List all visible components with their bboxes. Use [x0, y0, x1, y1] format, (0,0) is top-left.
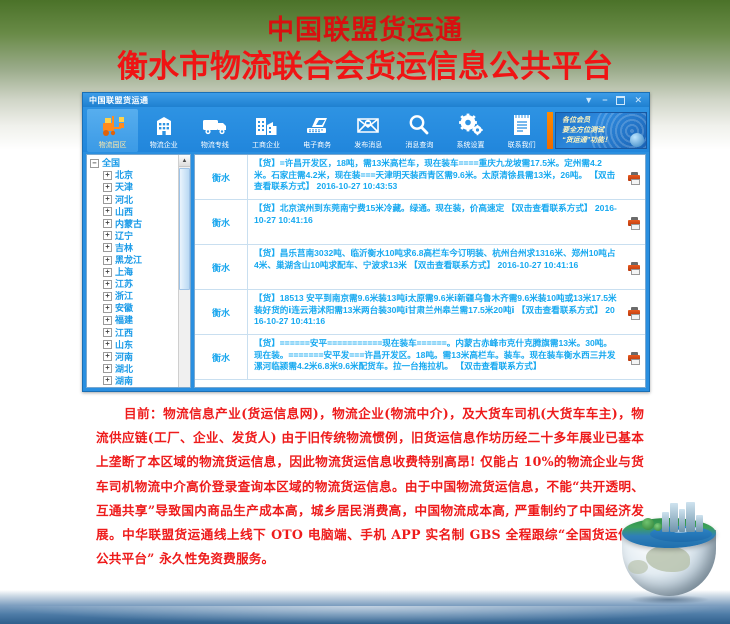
toolbar-label: 联系我们: [508, 140, 536, 150]
tree-expand-icon[interactable]: +: [103, 280, 112, 289]
message-row-body: 【货】======安平===========现在装车======。内蒙古赤峰市克…: [254, 338, 616, 371]
tree-node-label: 山东: [115, 339, 133, 351]
tree-node-province[interactable]: +河南: [90, 351, 178, 363]
ad-banner-line-3: “货运通”功能！: [562, 136, 646, 146]
toolbar-item-message-search[interactable]: 消息查询: [394, 109, 445, 152]
ad-banner[interactable]: 各位会员 要全方位测试 “货运通”功能！: [555, 112, 647, 149]
tree-node-province[interactable]: +浙江: [90, 290, 178, 302]
message-row-city: 衡水: [195, 245, 248, 289]
page-titles: 中国联盟货运通 衡水市物流联合会货运信息公共平台: [0, 14, 730, 86]
search-icon: [407, 112, 431, 138]
toolbar-label: 物流企业: [150, 140, 178, 150]
tree-node-province[interactable]: +湖南: [90, 375, 178, 387]
building-icon: [152, 112, 176, 138]
message-row-body: 【货】18513 安平到南京需9.6米装13吨ⅰ太原需9.6米ⅰ新疆乌鲁木齐需9…: [254, 293, 617, 314]
help-chevron-icon[interactable]: ▼: [584, 96, 593, 105]
globe-tree-small-icon: [654, 523, 662, 531]
tree-expand-icon[interactable]: +: [103, 171, 112, 180]
globe-shadow: [628, 595, 710, 604]
toolbar-item-logistics-line[interactable]: 物流专线: [189, 109, 240, 152]
tree-node-label: 河北: [115, 194, 133, 206]
message-row[interactable]: 衡水【货】18513 安平到南京需9.6米装13吨ⅰ太原需9.6米ⅰ新疆乌鲁木齐…: [195, 290, 645, 335]
toolbar-label: 系统设置: [457, 140, 485, 150]
globe-landmass: [646, 546, 690, 572]
tree-node-province[interactable]: +福建: [90, 314, 178, 326]
region-tree-panel: − 全国 +北京+天津+河北+山西+内蒙古+辽宁+吉林+黑龙江+上海+江苏+浙江…: [86, 154, 191, 388]
message-row-action[interactable]: [623, 335, 645, 379]
tree-node-province[interactable]: +天津: [90, 181, 178, 193]
tree-node-label: 湖南: [115, 375, 133, 387]
tree-expand-icon[interactable]: +: [103, 219, 112, 228]
tree-expand-icon[interactable]: +: [103, 243, 112, 252]
maximize-icon[interactable]: [616, 96, 625, 105]
truck-icon: [201, 112, 229, 138]
toolbar-orange-divider: [547, 112, 553, 149]
tree-node-province[interactable]: +山东: [90, 339, 178, 351]
message-row-body: 【货】北京滨州到东莞南宁费15米冷藏。绿通。现在装，价高速定 【双击查看联系方式…: [254, 203, 593, 213]
page-title-secondary: 衡水市物流联合会货运信息公共平台: [0, 48, 730, 86]
message-list: 衡水【货】=许昌开发区，18吨，需13米高栏车，现在装车====重庆九龙坡需17…: [195, 155, 645, 380]
message-row[interactable]: 衡水【货】昌乐莒南3032吨、临沂衡水10吨求6.8高栏车今订明装、杭州台州求1…: [195, 245, 645, 290]
message-row-body: 【货】=许昌开发区，18吨，需13米高栏车，现在装车====重庆九龙坡需17.5…: [254, 158, 615, 191]
ad-banner-line-2: 要全方位测试: [562, 126, 646, 136]
tree-node-province[interactable]: +安徽: [90, 302, 178, 314]
tree-node-label: 山西: [115, 206, 133, 218]
skyline-building: [670, 503, 678, 532]
tree-expand-icon[interactable]: +: [103, 304, 112, 313]
message-list-panel[interactable]: 衡水【货】=许昌开发区，18吨，需13米高栏车，现在装车====重庆九龙坡需17…: [194, 154, 646, 388]
message-row-city: 衡水: [195, 290, 248, 334]
tree-node-nationwide[interactable]: − 全国: [90, 157, 178, 169]
minimize-icon[interactable]: −: [602, 96, 607, 105]
message-row-action[interactable]: [623, 200, 645, 244]
tree-node-label: 吉林: [115, 242, 133, 254]
message-row-city: 衡水: [195, 200, 248, 244]
gear-icon: [458, 112, 484, 138]
window-controls: ▼ − ✕: [584, 96, 647, 105]
skyline-building: [686, 502, 695, 532]
tree-scrollbar[interactable]: ▲: [178, 155, 190, 387]
tree-expand-icon[interactable]: +: [103, 376, 112, 385]
tree-node-province[interactable]: +江苏: [90, 278, 178, 290]
tree-children: +北京+天津+河北+山西+内蒙古+辽宁+吉林+黑龙江+上海+江苏+浙江+安徽+福…: [90, 169, 178, 387]
toolbar-item-publish-message[interactable]: 发布消息: [343, 109, 394, 152]
toolbar-item-logistics-company[interactable]: 物流企业: [138, 109, 189, 152]
printer-icon[interactable]: [628, 217, 640, 228]
tree-collapse-icon[interactable]: −: [90, 159, 99, 168]
message-row-text: 【货】昌乐莒南3032吨、临沂衡水10吨求6.8高栏车今订明装、杭州台州求131…: [248, 245, 623, 289]
tree-node-label: 全国: [102, 157, 120, 169]
toolbar-item-system-settings[interactable]: 系统设置: [445, 109, 496, 152]
printer-icon[interactable]: [628, 172, 640, 183]
tree-node-label: 黑龙江: [115, 254, 142, 266]
tree-node-label: 辽宁: [115, 230, 133, 242]
globe-city-skyline: [662, 502, 706, 532]
tree-expand-icon[interactable]: +: [103, 292, 112, 301]
window-app-name: 中国联盟货运通: [89, 95, 584, 106]
tree-expand-icon[interactable]: +: [103, 328, 112, 337]
window-titlebar[interactable]: 中国联盟货运通 ▼ − ✕: [83, 93, 649, 107]
message-row-text: 【货】北京滨州到东莞南宁费15米冷藏。绿通。现在装，价高速定 【双击查看联系方式…: [248, 200, 623, 244]
skyline-building: [662, 512, 669, 532]
tree-node-label: 内蒙古: [115, 218, 142, 230]
envelope-icon: [355, 112, 381, 138]
background-water-glow: [0, 606, 730, 624]
earth-city-globe-icon: [616, 498, 722, 602]
message-row[interactable]: 衡水【货】北京滨州到东莞南宁费15米冷藏。绿通。现在装，价高速定 【双击查看联系…: [195, 200, 645, 245]
toolbar-item-logistics-park[interactable]: 物流园区: [87, 109, 138, 152]
tree-node-label: 上海: [115, 266, 133, 278]
window-body: − 全国 +北京+天津+河北+山西+内蒙古+辽宁+吉林+黑龙江+上海+江苏+浙江…: [83, 152, 649, 391]
tree-node-label: 河南: [115, 351, 133, 363]
tree-node-label: 江西: [115, 327, 133, 339]
globe-landmass-secondary: [628, 560, 648, 574]
intro-paragraph: 目前：物流信息产业(货运信息网)，物流企业(物流中介)，及大货车司机(大货车车主…: [96, 402, 644, 571]
tree-node-province[interactable]: +江西: [90, 327, 178, 339]
message-row-action[interactable]: [623, 155, 645, 199]
tree-node-province[interactable]: +内蒙古: [90, 218, 178, 230]
tree-expand-icon[interactable]: +: [103, 340, 112, 349]
ad-banner-line-1: 各位会员: [562, 116, 646, 126]
page-title-primary: 中国联盟货运通: [0, 14, 730, 48]
printer-icon[interactable]: [628, 262, 640, 273]
scroll-up-icon[interactable]: ▲: [179, 155, 190, 167]
application-window: 中国联盟货运通 ▼ − ✕ 物流园区: [82, 92, 650, 392]
tree-node-province[interactable]: +河北: [90, 194, 178, 206]
message-row-text: 【货】=许昌开发区，18吨，需13米高栏车，现在装车====重庆九龙坡需17.5…: [248, 155, 623, 199]
message-row-city: 衡水: [195, 335, 248, 379]
toolbar-item-contact-us[interactable]: 联系我们: [496, 109, 547, 152]
tree-expand-icon[interactable]: +: [103, 231, 112, 240]
toolbar-label: 发布消息: [354, 140, 382, 150]
globe-tree-large-icon: [642, 518, 654, 530]
tree-node-label: 江苏: [115, 278, 133, 290]
skyline-building: [696, 515, 703, 532]
close-icon[interactable]: ✕: [634, 96, 642, 105]
tree-expand-icon[interactable]: +: [103, 207, 112, 216]
region-tree: − 全国 +北京+天津+河北+山西+内蒙古+辽宁+吉林+黑龙江+上海+江苏+浙江…: [87, 155, 178, 387]
tree-node-province[interactable]: +山西: [90, 206, 178, 218]
tree-node-label: 北京: [115, 169, 133, 181]
tree-node-label: 湖北: [115, 363, 133, 375]
message-row-action[interactable]: [623, 290, 645, 334]
tree-node-province[interactable]: +辽宁: [90, 230, 178, 242]
tree-node-label: 安徽: [115, 302, 133, 314]
tree-expand-icon[interactable]: +: [103, 183, 112, 192]
message-row[interactable]: 衡水【货】======安平===========现在装车======。内蒙古赤峰…: [195, 335, 645, 380]
tree-node-province[interactable]: +黑龙江: [90, 254, 178, 266]
tree-node-province[interactable]: +吉林: [90, 242, 178, 254]
tree-node-label: 福建: [115, 314, 133, 326]
tree-expand-icon[interactable]: +: [103, 316, 112, 325]
document-icon: [510, 112, 534, 138]
message-row-action[interactable]: [623, 245, 645, 289]
message-row-city: 衡水: [195, 155, 248, 199]
factory-icon: [253, 112, 279, 138]
toolbar-item-ecommerce[interactable]: 电子商务: [292, 109, 343, 152]
toolbar-item-industrial-company[interactable]: 工商企业: [240, 109, 291, 152]
message-row-timestamp: 2016-10-27 10:43:53: [314, 181, 397, 191]
tree-expand-icon[interactable]: +: [103, 256, 112, 265]
scrollbar-thumb[interactable]: [179, 168, 190, 290]
toolbar-label: 消息查询: [405, 140, 433, 150]
message-row-text: 【货】18513 安平到南京需9.6米装13吨ⅰ太原需9.6米ⅰ新疆乌鲁木齐需9…: [248, 290, 623, 334]
tree-node-label: 天津: [115, 181, 133, 193]
message-row-text: 【货】======安平===========现在装车======。内蒙古赤峰市克…: [248, 335, 623, 379]
toolbar-label: 物流专线: [201, 140, 229, 150]
tree-expand-icon[interactable]: +: [103, 364, 112, 373]
skyline-building: [679, 509, 685, 532]
tree-expand-icon[interactable]: +: [103, 195, 112, 204]
toolbar-label: 电子商务: [303, 140, 331, 150]
printer-icon[interactable]: [628, 352, 640, 363]
message-row-timestamp: 2016-10-27 10:41:16: [495, 260, 578, 270]
tree-node-province[interactable]: +北京: [90, 169, 178, 181]
tree-expand-icon[interactable]: +: [103, 352, 112, 361]
printer-icon[interactable]: [628, 307, 640, 318]
ecommerce-icon: [303, 112, 331, 138]
tree-node-province[interactable]: +上海: [90, 266, 178, 278]
toolbar-label: 物流园区: [99, 140, 127, 150]
forklift-icon: [100, 112, 126, 138]
tree-expand-icon[interactable]: +: [103, 268, 112, 277]
main-toolbar: 物流园区 物流企业: [83, 107, 649, 152]
toolbar-label: 工商企业: [252, 140, 280, 150]
tree-node-label: 浙江: [115, 290, 133, 302]
message-row[interactable]: 衡水【货】=许昌开发区，18吨，需13米高栏车，现在装车====重庆九龙坡需17…: [195, 155, 645, 200]
tree-node-province[interactable]: +湖北: [90, 363, 178, 375]
